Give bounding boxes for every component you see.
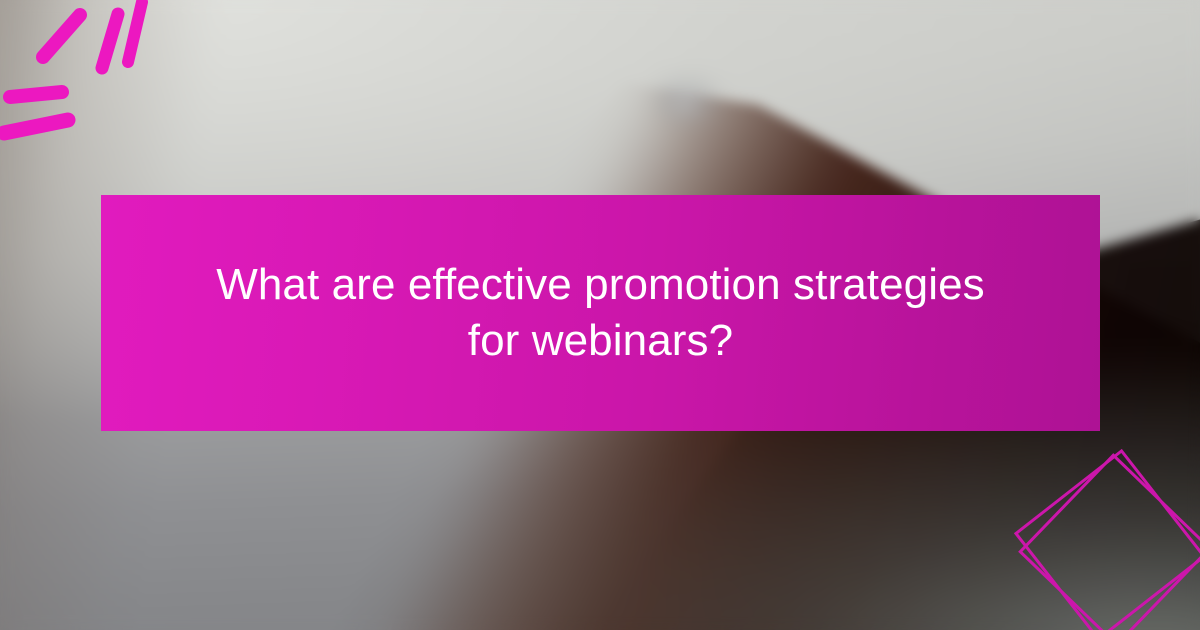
- rotated-square-two: [1016, 451, 1200, 630]
- headline-banner: What are effective promotion strategies …: [101, 195, 1100, 431]
- rotated-squares-icon: [985, 420, 1200, 630]
- page-title: What are effective promotion strategies …: [216, 257, 985, 369]
- rotated-square-one: [1020, 455, 1200, 630]
- starburst-icon: [0, 0, 175, 160]
- banner-card: What are effective promotion strategies …: [0, 0, 1200, 630]
